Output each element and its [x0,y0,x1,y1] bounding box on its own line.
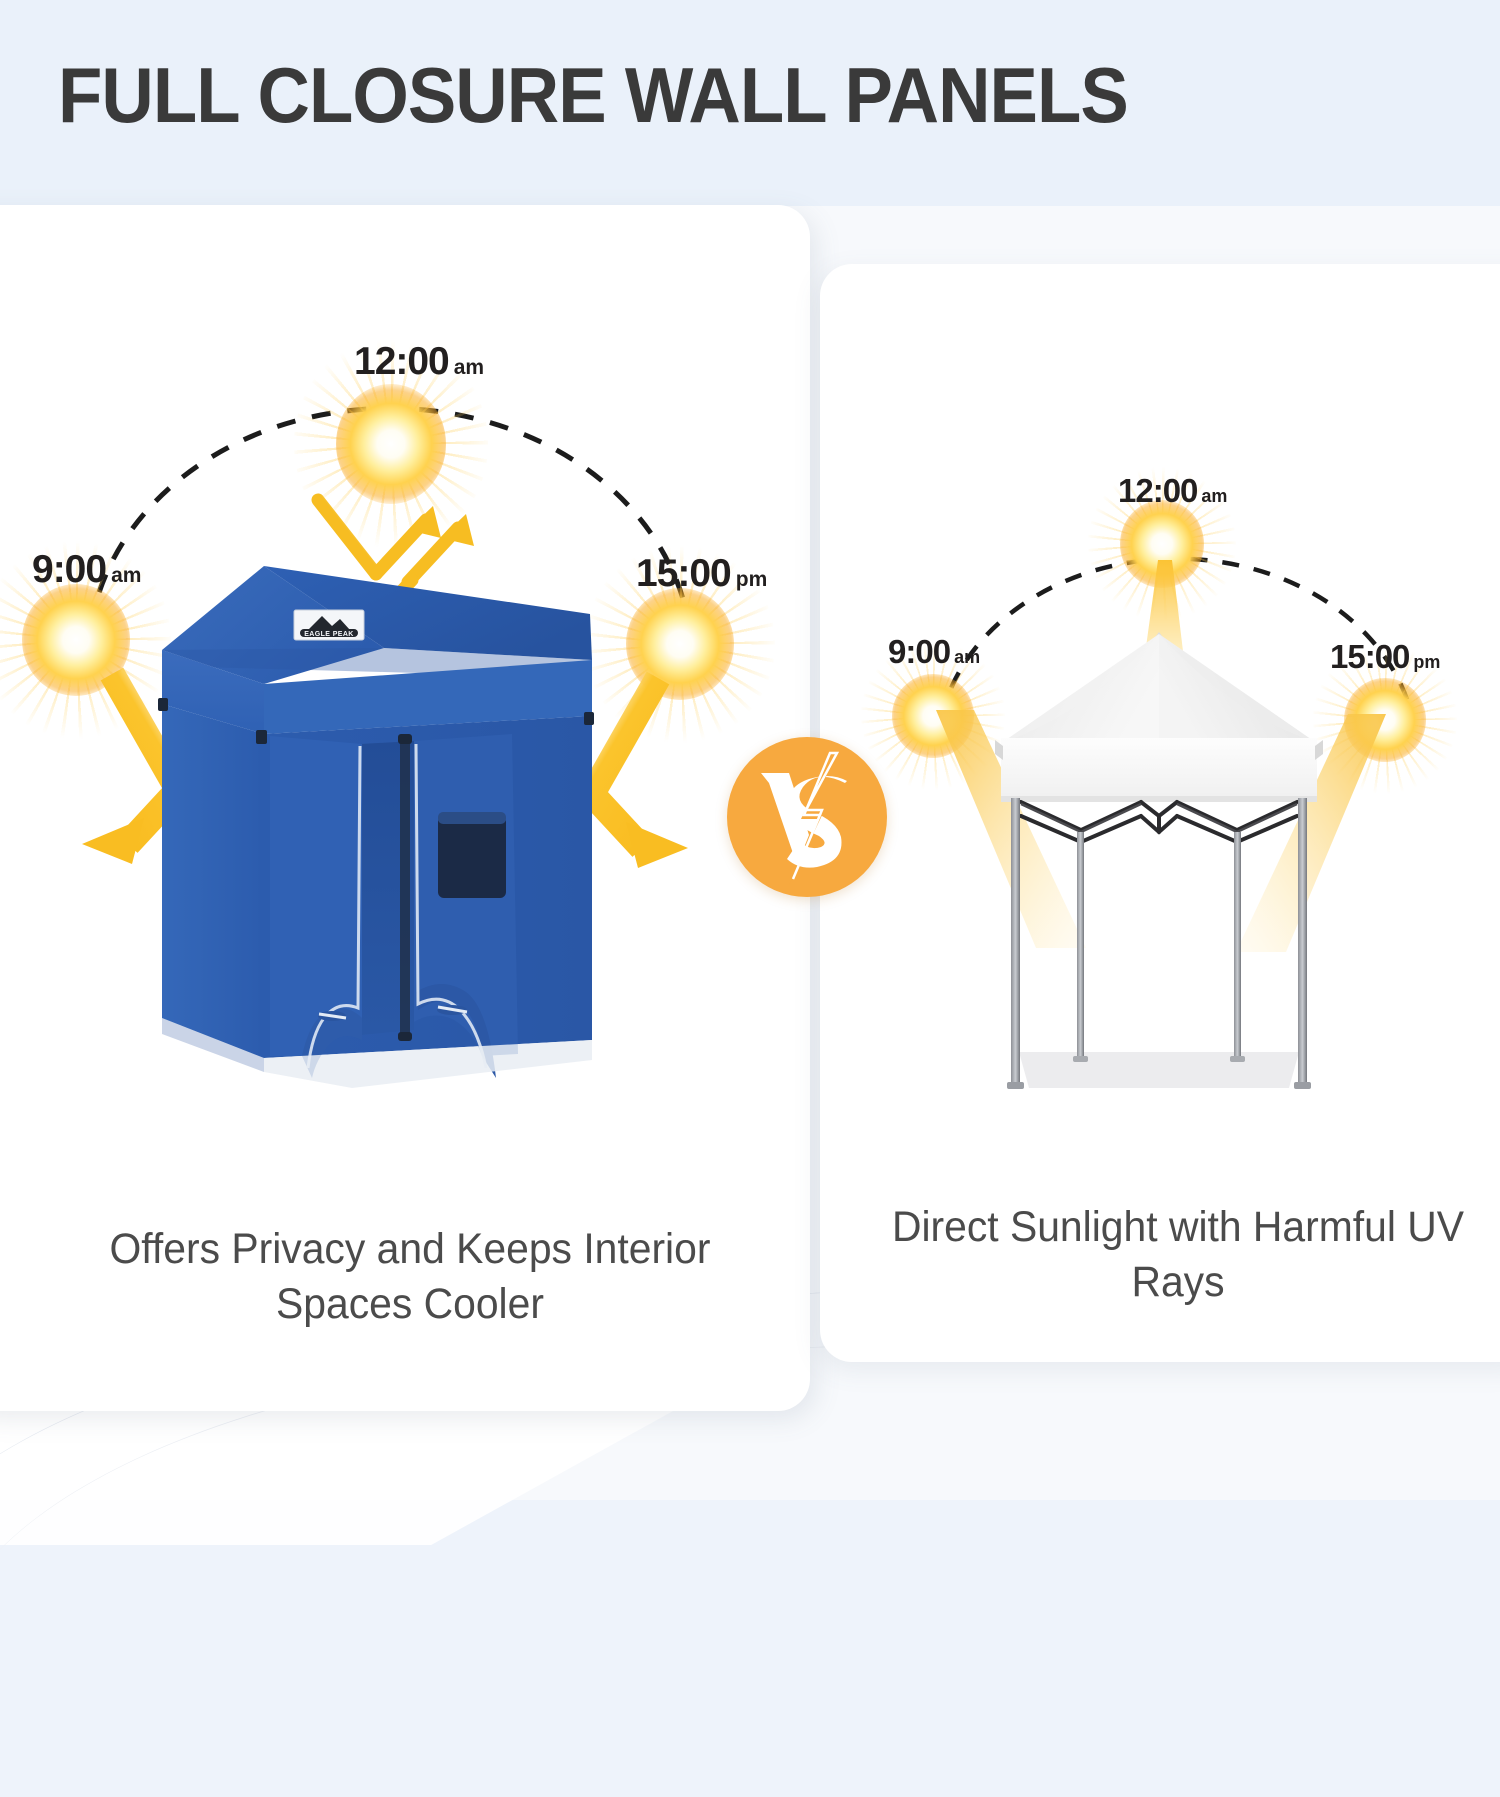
time-meridiem: pm [736,568,768,591]
time-meridiem: am [111,564,141,587]
brand-logo-patch: EAGLE PEAK [294,610,364,640]
left-panel-caption: Offers Privacy and Keeps Interior Spaces… [59,1222,762,1332]
svg-text:EAGLE PEAK: EAGLE PEAK [304,631,354,638]
time-meridiem: pm [1413,652,1440,672]
time-meridiem: am [454,356,484,379]
vs-badge: VS [727,737,887,897]
blue-canopy-tent: EAGLE PEAK [152,548,608,1148]
time-value: 12:00 [1118,472,1197,509]
infographic-stage: FULL CLOSURE WALL PANELS 12:00am 9:00am … [0,0,1500,1500]
right-time-label-morning: 9:00am [888,633,980,671]
right-time-label-afternoon: 15:00pm [1330,638,1440,676]
time-value: 9:00 [32,548,106,591]
left-time-label-morning: 9:00am [32,548,141,592]
left-time-label-noon: 12:00am [354,340,484,384]
right-panel-caption: Direct Sunlight with Harmful UV Rays [855,1200,1500,1310]
time-value: 15:00 [636,552,731,595]
time-value: 12:00 [354,340,449,383]
time-value: 9:00 [888,633,950,670]
vs-badge-art: VS [727,737,887,897]
time-value: 15:00 [1330,638,1409,675]
page-title: FULL CLOSURE WALL PANELS [58,56,1267,134]
white-canopy-tent [985,620,1333,1100]
right-time-label-noon: 12:00am [1118,472,1227,510]
time-meridiem: am [954,647,980,667]
time-meridiem: am [1201,486,1227,506]
left-time-label-afternoon: 15:00pm [636,552,767,596]
